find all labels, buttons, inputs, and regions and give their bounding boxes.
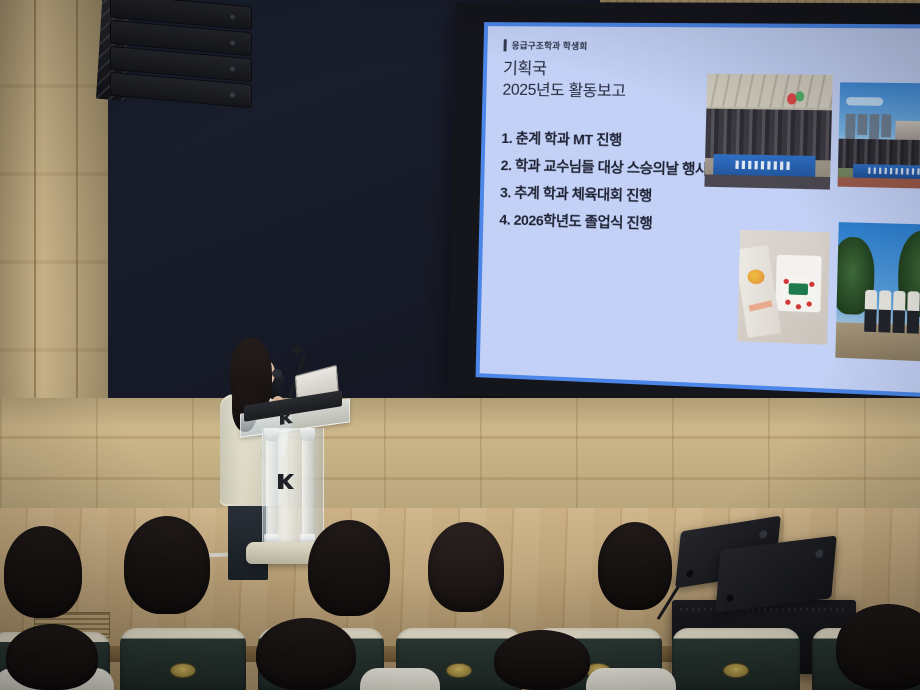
audience-shoulders bbox=[360, 668, 440, 690]
kicker-accent-bar bbox=[503, 39, 506, 51]
lower-block-wall bbox=[0, 398, 920, 518]
auditorium-seat[interactable] bbox=[120, 628, 246, 690]
audience-head bbox=[308, 520, 390, 616]
kicker-label: 응급구조학과 학생회 bbox=[512, 39, 588, 52]
audience-head bbox=[598, 522, 672, 610]
podium-support-tube bbox=[266, 434, 278, 548]
audience-head bbox=[4, 526, 82, 618]
slide-photo-cake-flowers bbox=[737, 230, 829, 345]
audience-head bbox=[6, 624, 98, 690]
auditorium-seat[interactable] bbox=[672, 628, 800, 690]
slide-photo-sports-field bbox=[838, 82, 920, 189]
line-array-speaker-icon bbox=[96, 0, 266, 111]
presentation-slide[interactable]: 응급구조학과 학생회 기획국 2025년도 활동보고 1. 춘계 학과 MT 진… bbox=[476, 22, 920, 397]
podium-support-tube bbox=[302, 434, 314, 548]
slide-photo-students-outdoors bbox=[835, 222, 920, 362]
auditorium-scene: 응급구조학과 학생회 기획국 2025년도 활동보고 1. 춘계 학과 MT 진… bbox=[0, 0, 920, 690]
audience-head bbox=[124, 516, 210, 614]
left-stone-wall bbox=[0, 0, 108, 415]
audience-head bbox=[428, 522, 504, 612]
audience-shoulders bbox=[586, 668, 676, 690]
audience-head bbox=[256, 618, 356, 690]
slide-kicker: 응급구조학과 학생회 bbox=[503, 39, 917, 54]
audience-head bbox=[494, 630, 590, 690]
projection-screen[interactable]: 응급구조학과 학생회 기획국 2025년도 활동보고 1. 춘계 학과 MT 진… bbox=[447, 2, 920, 417]
slide-photo-graduation bbox=[704, 74, 832, 190]
